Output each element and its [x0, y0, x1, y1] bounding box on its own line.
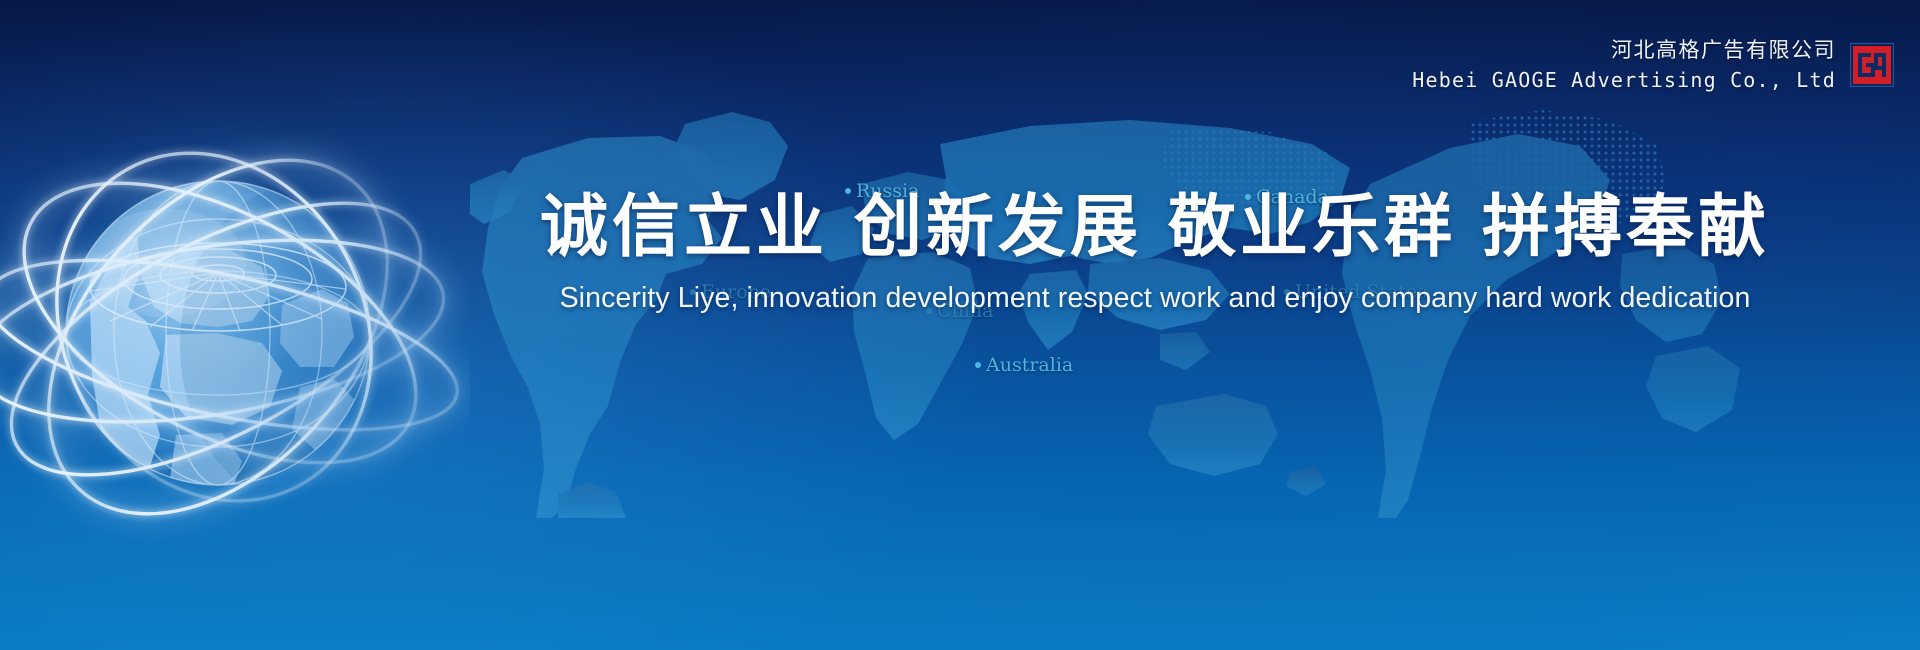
slogan-english: Sincerity Liye, innovation development r… — [510, 282, 1800, 315]
map-label-text: Australia — [986, 354, 1073, 376]
company-banner: Russia Canada Australia Europe China Uni… — [0, 0, 1920, 650]
map-dot-icon — [975, 362, 981, 368]
company-name-en: Hebei GAOGE Advertising Co., Ltd — [1412, 67, 1836, 94]
slogan-cn-part1: 诚信立业 — [540, 188, 828, 267]
slogan-block: 诚信立业创新发展敬业乐群拼搏奉献 Sincerity Liye, innovat… — [510, 188, 1800, 315]
slogan-chinese: 诚信立业创新发展敬业乐群拼搏奉献 — [510, 188, 1800, 268]
company-name-cn: 河北高格广告有限公司 — [1412, 36, 1836, 64]
company-header: 河北高格广告有限公司 Hebei GAOGE Advertising Co., … — [1412, 36, 1894, 94]
company-name-block: 河北高格广告有限公司 Hebei GAOGE Advertising Co., … — [1412, 36, 1836, 94]
globe-graphic — [0, 95, 470, 565]
map-label-australia: Australia — [975, 354, 1073, 376]
slogan-cn-part3: 敬业乐群 — [1168, 188, 1456, 267]
slogan-cn-part2: 创新发展 — [854, 188, 1142, 267]
company-logo — [1850, 43, 1894, 87]
slogan-cn-part4: 拼搏奉献 — [1482, 188, 1770, 267]
